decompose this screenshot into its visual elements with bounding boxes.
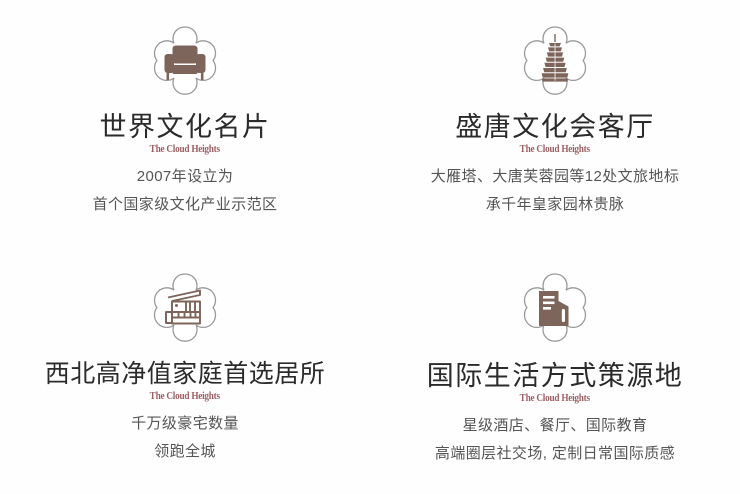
card-title: 西北高净值家庭首选居所 bbox=[45, 361, 326, 389]
armchair-icon bbox=[140, 22, 230, 104]
card-line: 承千年皇家园林贵脉 bbox=[431, 196, 680, 215]
feature-card-international-lifestyle[interactable]: 国际生活方式策源地 The Cloud Heights 星级酒店、餐厅、国际教育… bbox=[370, 247, 740, 494]
card-body: 星级酒店、餐厅、国际教育 高端圈层社交场, 定制日常国际质感 bbox=[435, 417, 675, 464]
card-line: 大雁塔、大唐芙蓉园等12处文旅地标 bbox=[431, 168, 680, 187]
card-line: 星级酒店、餐厅、国际教育 bbox=[435, 417, 675, 436]
card-body: 大雁塔、大唐芙蓉园等12处文旅地标 承千年皇家园林贵脉 bbox=[431, 168, 680, 215]
villa-icon bbox=[140, 269, 230, 351]
card-subtitle: The Cloud Heights bbox=[150, 390, 220, 402]
card-title: 盛唐文化会客厅 bbox=[455, 112, 655, 142]
card-subtitle: The Cloud Heights bbox=[150, 143, 220, 155]
card-line: 首个国家级文化产业示范区 bbox=[93, 196, 278, 215]
card-line: 高端圈层社交场, 定制日常国际质感 bbox=[435, 445, 675, 464]
buildings-icon bbox=[510, 269, 600, 351]
card-line: 千万级豪宅数量 bbox=[131, 415, 239, 434]
feature-grid: 世界文化名片 The Cloud Heights 2007年设立为 首个国家级文… bbox=[0, 0, 740, 494]
card-subtitle: The Cloud Heights bbox=[520, 143, 590, 155]
card-line: 2007年设立为 bbox=[93, 168, 278, 187]
feature-card-tang-culture[interactable]: 盛唐文化会客厅 The Cloud Heights 大雁塔、大唐芙蓉园等12处文… bbox=[370, 0, 740, 247]
feature-card-world-culture[interactable]: 世界文化名片 The Cloud Heights 2007年设立为 首个国家级文… bbox=[0, 0, 370, 247]
pagoda-icon bbox=[510, 22, 600, 104]
card-title: 世界文化名片 bbox=[100, 112, 271, 142]
card-line: 领跑全城 bbox=[131, 443, 239, 462]
card-body: 2007年设立为 首个国家级文化产业示范区 bbox=[93, 168, 278, 215]
feature-card-villa[interactable]: 西北高净值家庭首选居所 The Cloud Heights 千万级豪宅数量 领跑… bbox=[0, 247, 370, 494]
card-body: 千万级豪宅数量 领跑全城 bbox=[131, 415, 239, 462]
card-title: 国际生活方式策源地 bbox=[427, 361, 684, 391]
card-subtitle: The Cloud Heights bbox=[520, 392, 590, 404]
